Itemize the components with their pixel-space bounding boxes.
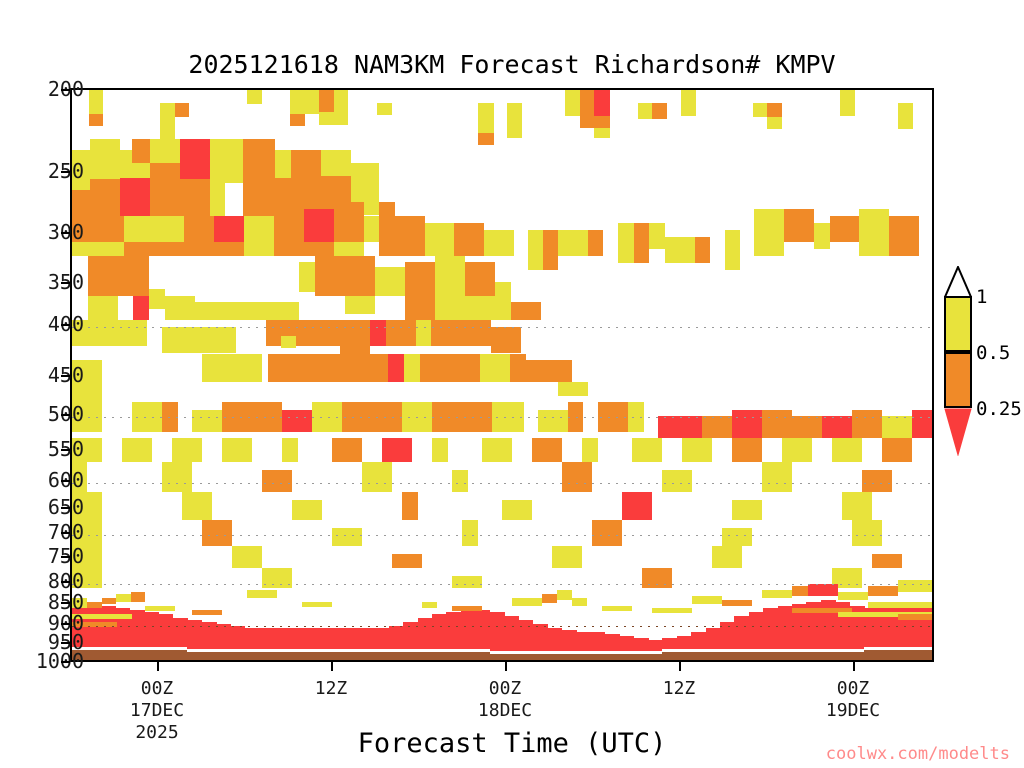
terrain-fill — [158, 650, 173, 662]
boundary-layer-cell — [778, 606, 793, 649]
boundary-layer-cell — [202, 622, 217, 649]
heatmap-cell — [202, 520, 232, 546]
terrain-fill — [590, 654, 605, 662]
heatmap-cell — [767, 103, 782, 117]
heatmap-cell — [118, 256, 133, 296]
heatmap-cell — [102, 320, 132, 346]
heatmap-cell — [132, 402, 162, 432]
heatmap-cell — [116, 594, 131, 602]
heatmap-cell — [132, 139, 150, 163]
boundary-layer-cell — [360, 628, 375, 649]
heatmap-cell — [305, 90, 319, 114]
heatmap-cell — [725, 230, 740, 270]
heatmap-cell — [202, 354, 232, 382]
heatmap-cell — [165, 296, 195, 320]
heatmap-cell — [274, 242, 304, 256]
x-tick-date: 17DEC — [87, 700, 227, 722]
boundary-layer-cell — [418, 618, 433, 649]
heatmap-cell — [753, 103, 768, 117]
heatmap-cell — [405, 296, 435, 320]
heatmap-cell — [512, 598, 542, 606]
heatmap-cell — [462, 402, 492, 432]
heatmap-cell — [282, 410, 312, 432]
heatmap-cell — [782, 438, 812, 462]
heatmap-cell — [722, 528, 752, 546]
x-tick-time: 00Z — [435, 678, 575, 700]
heatmap-cell — [808, 584, 838, 596]
heatmap-cell — [842, 492, 872, 520]
boundary-layer-cell — [763, 608, 778, 649]
heatmap-cell — [290, 114, 305, 126]
heatmap-cell — [192, 410, 222, 432]
heatmap-cell — [898, 580, 934, 592]
terrain-fill — [605, 654, 620, 662]
terrain-fill — [518, 654, 533, 662]
heatmap-cell — [532, 438, 562, 462]
boundary-layer-cell — [475, 610, 490, 649]
terrain-fill — [734, 652, 749, 662]
boundary-layer-cell — [274, 628, 289, 649]
boundary-layer-cell — [734, 616, 749, 649]
heatmap-cell — [665, 237, 695, 263]
heatmap-cell — [358, 354, 388, 382]
heatmap-cell — [247, 90, 262, 104]
y-tick-label-1000: 1000 — [36, 649, 84, 673]
heatmap-cell — [852, 520, 882, 546]
colorbar-segment-yellow — [944, 296, 972, 352]
boundary-layer-cell — [648, 640, 663, 651]
terrain-fill — [619, 654, 634, 662]
heatmap-cell — [594, 128, 610, 138]
heatmap-cell — [732, 438, 762, 462]
terrain-fill — [202, 652, 217, 662]
boundary-layer-cell — [518, 620, 533, 651]
heatmap-cell — [912, 410, 934, 438]
y-tick-mark-500 — [61, 414, 70, 416]
heatmap-cell — [652, 103, 667, 119]
heatmap-cell — [632, 438, 662, 462]
heatmap-cell — [302, 602, 332, 607]
heatmap-cell — [452, 606, 482, 611]
heatmap-cell — [450, 354, 480, 382]
heatmap-cell — [232, 546, 262, 568]
heatmap-cell — [478, 133, 494, 145]
terrain-fill — [389, 652, 404, 662]
heatmap-cell — [132, 320, 147, 346]
terrain-fill — [864, 650, 879, 662]
heatmap-cell — [838, 592, 868, 600]
heatmap-cell — [889, 216, 919, 256]
x-tick-time: 00Z — [87, 678, 227, 700]
boundary-layer-cell — [691, 632, 706, 649]
x-tick-date: 19DEC — [783, 700, 923, 722]
x-tick-time: 12Z — [261, 678, 401, 700]
heatmap-cell — [160, 103, 175, 139]
boundary-layer-cell — [230, 626, 245, 649]
boundary-layer-cell — [576, 632, 591, 651]
heatmap-cell — [510, 354, 526, 382]
heatmap-cell — [192, 610, 222, 615]
heatmap-cell — [290, 90, 305, 114]
heatmap-cell — [465, 262, 495, 296]
boundary-layer-cell — [720, 622, 735, 649]
terrain-fill — [216, 652, 231, 662]
heatmap-cell — [511, 302, 541, 320]
x-tick-mark-1 — [331, 662, 333, 671]
heatmap-cell — [172, 438, 202, 462]
heatmap-cell — [392, 554, 422, 568]
heatmap-cell — [379, 202, 395, 256]
heatmap-cell — [334, 90, 348, 125]
heatmap-cell — [122, 438, 152, 462]
heatmap-cell — [88, 256, 118, 296]
terrain-fill — [475, 652, 490, 662]
heatmap-cell — [462, 520, 478, 546]
heatmap-cell — [422, 602, 437, 608]
heatmap-cell — [662, 470, 692, 492]
heatmap-cell — [622, 492, 652, 520]
heatmap-cell — [562, 462, 592, 492]
heatmap-cell — [465, 296, 495, 320]
heatmap-cell — [452, 470, 468, 492]
y-tick-mark-400 — [61, 324, 70, 326]
heatmap-cell — [580, 116, 610, 128]
boundary-layer-cell — [432, 614, 447, 649]
boundary-layer-cell — [245, 628, 260, 649]
boundary-layer-cell — [504, 616, 519, 651]
terrain-fill — [461, 652, 476, 662]
heatmap-cell — [340, 320, 370, 346]
heatmap-cell — [232, 354, 262, 382]
heatmap-cell — [364, 216, 379, 242]
boundary-layer-cell — [562, 630, 577, 651]
heatmap-cell — [402, 402, 432, 432]
colorbar-legend: 10.50.25 — [944, 296, 974, 468]
heatmap-cell — [195, 302, 225, 320]
heatmap-cell — [872, 554, 902, 568]
heatmap-cell — [882, 438, 912, 462]
watermark: coolwx.com/modelts — [826, 744, 1010, 764]
terrain-fill — [547, 654, 562, 662]
boundary-layer-cell — [922, 602, 934, 647]
heatmap-cell — [832, 438, 862, 462]
heatmap-cell — [405, 262, 435, 296]
boundary-layer-cell — [259, 628, 274, 649]
terrain-fill — [922, 650, 934, 662]
boundary-layer-cell — [346, 628, 361, 649]
y-tick-mark-900 — [61, 623, 70, 625]
heatmap-cell — [792, 586, 808, 596]
heatmap-cell — [321, 150, 351, 176]
boundary-layer-cell — [634, 638, 649, 651]
y-tick-mark-250 — [61, 171, 70, 173]
heatmap-cell — [461, 320, 491, 346]
heatmap-cell — [382, 438, 412, 462]
heatmap-cell — [334, 202, 364, 242]
heatmap-cell — [299, 262, 315, 292]
heatmap-cell — [557, 590, 572, 600]
heatmap-cell — [243, 139, 275, 167]
terrain-fill — [403, 652, 418, 662]
x-tick-mark-4 — [853, 662, 855, 671]
heatmap-cell — [131, 592, 145, 602]
terrain-fill — [418, 652, 433, 662]
heatmap-cell — [133, 296, 149, 320]
x-tick-label-4: 00Z19DEC — [783, 678, 923, 722]
colorbar-segment-orange — [944, 352, 972, 408]
heatmap-cell — [282, 438, 298, 462]
y-tick-mark-350 — [61, 282, 70, 284]
heatmap-cell — [274, 216, 304, 242]
y-tick-mark-200 — [61, 89, 70, 91]
boundary-layer-cell — [216, 624, 231, 649]
heatmap-cell — [830, 216, 860, 242]
heatmap-cell — [762, 410, 792, 438]
terrain-fill — [806, 652, 821, 662]
heatmap-cell — [792, 416, 822, 438]
heatmap-cell — [852, 410, 882, 438]
boundary-layer-cell — [288, 628, 303, 649]
terrain-fill — [101, 650, 116, 662]
boundary-layer-cell — [331, 628, 346, 649]
terrain-fill — [374, 652, 389, 662]
heatmap-cell — [482, 438, 512, 462]
heatmap-cell — [296, 320, 340, 346]
heatmap-cell — [642, 568, 672, 588]
terrain-fill — [749, 652, 764, 662]
heatmap-cell — [275, 150, 291, 178]
heatmap-cell — [262, 568, 292, 588]
heatmap-cell — [722, 600, 752, 606]
heatmap-cell — [87, 602, 102, 608]
terrain-fill — [907, 650, 922, 662]
heatmap-cell — [370, 320, 386, 346]
heatmap-cell — [898, 614, 934, 620]
heatmap-cell — [244, 242, 274, 256]
heatmap-cell — [822, 416, 852, 438]
terrain-fill — [533, 654, 548, 662]
heatmap-cell — [180, 179, 210, 217]
boundary-layer-cell — [173, 618, 188, 647]
boundary-layer-cell — [317, 628, 332, 649]
boundary-layer-cell — [374, 628, 389, 649]
terrain-fill — [792, 652, 807, 662]
terrain-fill — [245, 652, 260, 662]
heatmap-cell — [542, 594, 557, 603]
terrain-fill — [691, 652, 706, 662]
boundary-layer-cell — [302, 628, 317, 649]
heatmap-cell — [162, 327, 192, 353]
heatmap-cell — [281, 336, 296, 348]
heatmap-cell — [247, 590, 277, 598]
heatmap-cell — [72, 190, 90, 216]
heatmap-cell — [345, 256, 375, 296]
heatmap-cell — [269, 302, 299, 320]
boundary-layer-cell — [490, 612, 505, 651]
heatmap-cell — [214, 216, 244, 242]
heatmap-cell — [90, 139, 120, 179]
terrain-fill — [706, 652, 721, 662]
heatmap-cell — [315, 256, 345, 296]
heatmap-cell — [702, 416, 732, 438]
boundary-layer-cell — [187, 620, 202, 649]
chart-title: 2025121618 NAM3KM Forecast Richardson# K… — [0, 50, 1024, 79]
heatmap-cell — [377, 103, 392, 115]
terrain-fill — [677, 652, 692, 662]
colorbar-label-1: 1 — [976, 286, 987, 308]
terrain-fill — [115, 650, 130, 662]
terrain-fill — [144, 650, 159, 662]
terrain-fill — [720, 652, 735, 662]
y-tick-mark-300 — [61, 232, 70, 234]
heatmap-cell — [72, 242, 124, 256]
terrain-fill — [634, 654, 649, 662]
heatmap-cell — [840, 90, 855, 116]
y-tick-mark-850 — [61, 602, 70, 604]
heatmap-cell — [898, 103, 913, 129]
y-tick-mark-550 — [61, 449, 70, 451]
terrain-fill — [648, 654, 663, 662]
heatmap-cell — [484, 230, 514, 256]
heatmap-cell — [225, 302, 269, 320]
chart-root: 2025121618 NAM3KM Forecast Richardson# K… — [0, 0, 1024, 768]
heatmap-cell — [502, 500, 532, 520]
heatmap-cell — [332, 528, 362, 546]
heatmap-cell — [345, 296, 375, 314]
terrain-fill — [662, 652, 677, 662]
x-tick-label-3: 12Z — [609, 678, 749, 700]
heatmap-cell — [328, 354, 358, 382]
heatmap-cell — [478, 103, 494, 133]
heatmap-cell — [342, 402, 372, 432]
heatmap-cell — [754, 209, 784, 256]
x-tick-mark-3 — [679, 662, 681, 671]
boundary-layer-cell — [547, 628, 562, 651]
boundary-layer-cell — [403, 622, 418, 649]
terrain-fill — [187, 652, 202, 662]
heatmap-cell — [425, 223, 455, 256]
heatmap-cell — [649, 223, 665, 249]
colorbar-label-0p25: 0.25 — [976, 398, 1022, 420]
colorbar-label-0p5: 0.5 — [976, 342, 1010, 364]
heatmap-cell — [192, 327, 236, 353]
heatmap-cell — [402, 492, 418, 520]
heatmap-cell — [222, 402, 252, 432]
heatmap-cell — [375, 267, 405, 296]
boundary-layer-cell — [446, 612, 461, 649]
terrain-fill — [302, 652, 317, 662]
heatmap-cell — [528, 230, 543, 270]
heatmap-cell — [244, 216, 274, 242]
heatmap-cell — [180, 139, 210, 179]
heatmap-cell — [762, 462, 792, 492]
terrain-fill — [86, 650, 101, 662]
heatmap-cell — [395, 216, 425, 256]
heatmap-cell — [150, 163, 180, 177]
terrain-fill — [878, 650, 893, 662]
heatmap-cell — [868, 586, 898, 596]
terrain-fill — [821, 652, 836, 662]
boundary-layer-cell — [749, 612, 764, 649]
heatmap-cell — [480, 354, 510, 382]
heatmap-cell — [882, 416, 912, 438]
y-tick-mark-650 — [61, 507, 70, 509]
heatmap-cell — [420, 354, 450, 382]
heatmap-cell — [767, 117, 782, 129]
heatmap-cell — [210, 165, 225, 217]
heatmap-cell — [762, 590, 792, 598]
heatmap-cell — [732, 410, 762, 438]
heatmap-cell — [634, 223, 649, 263]
colorbar-upper-arrow — [944, 266, 972, 298]
heatmap-cell — [580, 90, 595, 116]
heatmap-cell — [332, 438, 362, 462]
heatmap-cell — [859, 209, 889, 256]
y-tick-mark-750 — [61, 556, 70, 558]
y-tick-mark-1000 — [61, 661, 70, 663]
heatmap-cell — [558, 382, 588, 396]
y-tick-mark-950 — [61, 642, 70, 644]
heatmap-cell — [552, 546, 582, 568]
terrain-fill — [331, 652, 346, 662]
heatmap-cell — [149, 289, 165, 309]
heatmap-cell — [868, 602, 934, 608]
heatmap-cell — [435, 296, 465, 320]
heatmap-cell — [558, 230, 588, 256]
x-tick-label-2: 00Z18DEC — [435, 678, 575, 722]
heatmap-cell — [388, 354, 404, 382]
heatmap-cell — [628, 402, 644, 432]
heatmap-cell — [182, 492, 212, 520]
heatmap-cell — [638, 103, 653, 119]
terrain-fill — [835, 652, 850, 662]
heatmap-cell — [862, 470, 892, 492]
heatmap-cell — [319, 112, 334, 125]
heatmap-cell — [682, 438, 712, 462]
heatmap-cell — [435, 256, 465, 296]
heatmap-cell — [784, 209, 814, 242]
boundary-layer-cell — [619, 636, 634, 651]
heatmap-cell — [184, 216, 214, 242]
heatmap-cell — [432, 402, 462, 432]
heatmap-cell — [452, 576, 482, 588]
heatmap-cell — [492, 402, 508, 432]
heatmap-cell — [184, 242, 214, 256]
terrain-fill — [778, 652, 793, 662]
heatmap-cell — [592, 520, 622, 546]
terrain-fill — [432, 652, 447, 662]
heatmap-cell — [162, 402, 178, 432]
heatmap-cell — [681, 90, 696, 116]
terrain-fill — [576, 654, 591, 662]
heatmap-cell — [692, 596, 722, 604]
y-tick-mark-600 — [61, 480, 70, 482]
y-tick-mark-450 — [61, 375, 70, 377]
heatmap-cell — [495, 282, 511, 320]
heatmap-cell — [588, 230, 603, 256]
y-tick-mark-800 — [61, 581, 70, 583]
colorbar-lower-arrow — [944, 408, 972, 456]
terrain-fill — [562, 654, 577, 662]
terrain-fill — [490, 654, 505, 662]
terrain-fill — [763, 652, 778, 662]
heatmap-cell — [538, 410, 568, 432]
boundary-layer-cell — [461, 610, 476, 649]
heatmap-cell — [90, 179, 120, 217]
heatmap-cell — [652, 608, 692, 613]
x-tick-mark-2 — [505, 662, 507, 671]
heatmap-cell — [658, 416, 702, 438]
